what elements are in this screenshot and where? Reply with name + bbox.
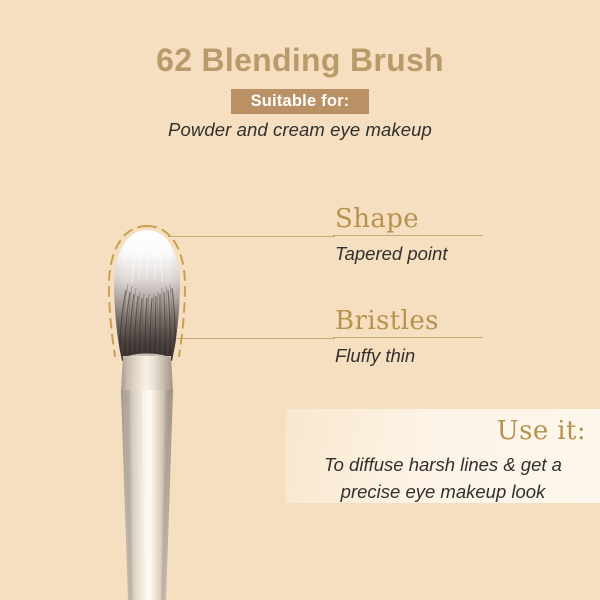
feature-heading-shape: Shape [333,204,483,234]
page-title: 62 Blending Brush [0,42,600,79]
makeup-brush-illustration [92,222,202,600]
product-infographic: 62 Blending Brush Suitable for: Powder a… [0,0,600,600]
use-it-panel: Use it: To diffuse harsh lines & get a p… [286,409,600,503]
feature-heading-bristles: Bristles [333,306,483,336]
feature-block-bristles: Bristles Fluffy thin [333,306,483,369]
subtitle-text: Powder and cream eye makeup [120,117,480,142]
use-it-body: To diffuse harsh lines & get a precise e… [294,451,592,505]
feature-value-bristles: Fluffy thin [333,338,483,369]
brush-ferrule [121,356,173,392]
feature-block-shape: Shape Tapered point [333,204,483,267]
suitable-for-badge: Suitable for: [231,89,369,114]
feature-value-shape: Tapered point [333,236,483,267]
use-it-heading: Use it: [497,416,586,446]
